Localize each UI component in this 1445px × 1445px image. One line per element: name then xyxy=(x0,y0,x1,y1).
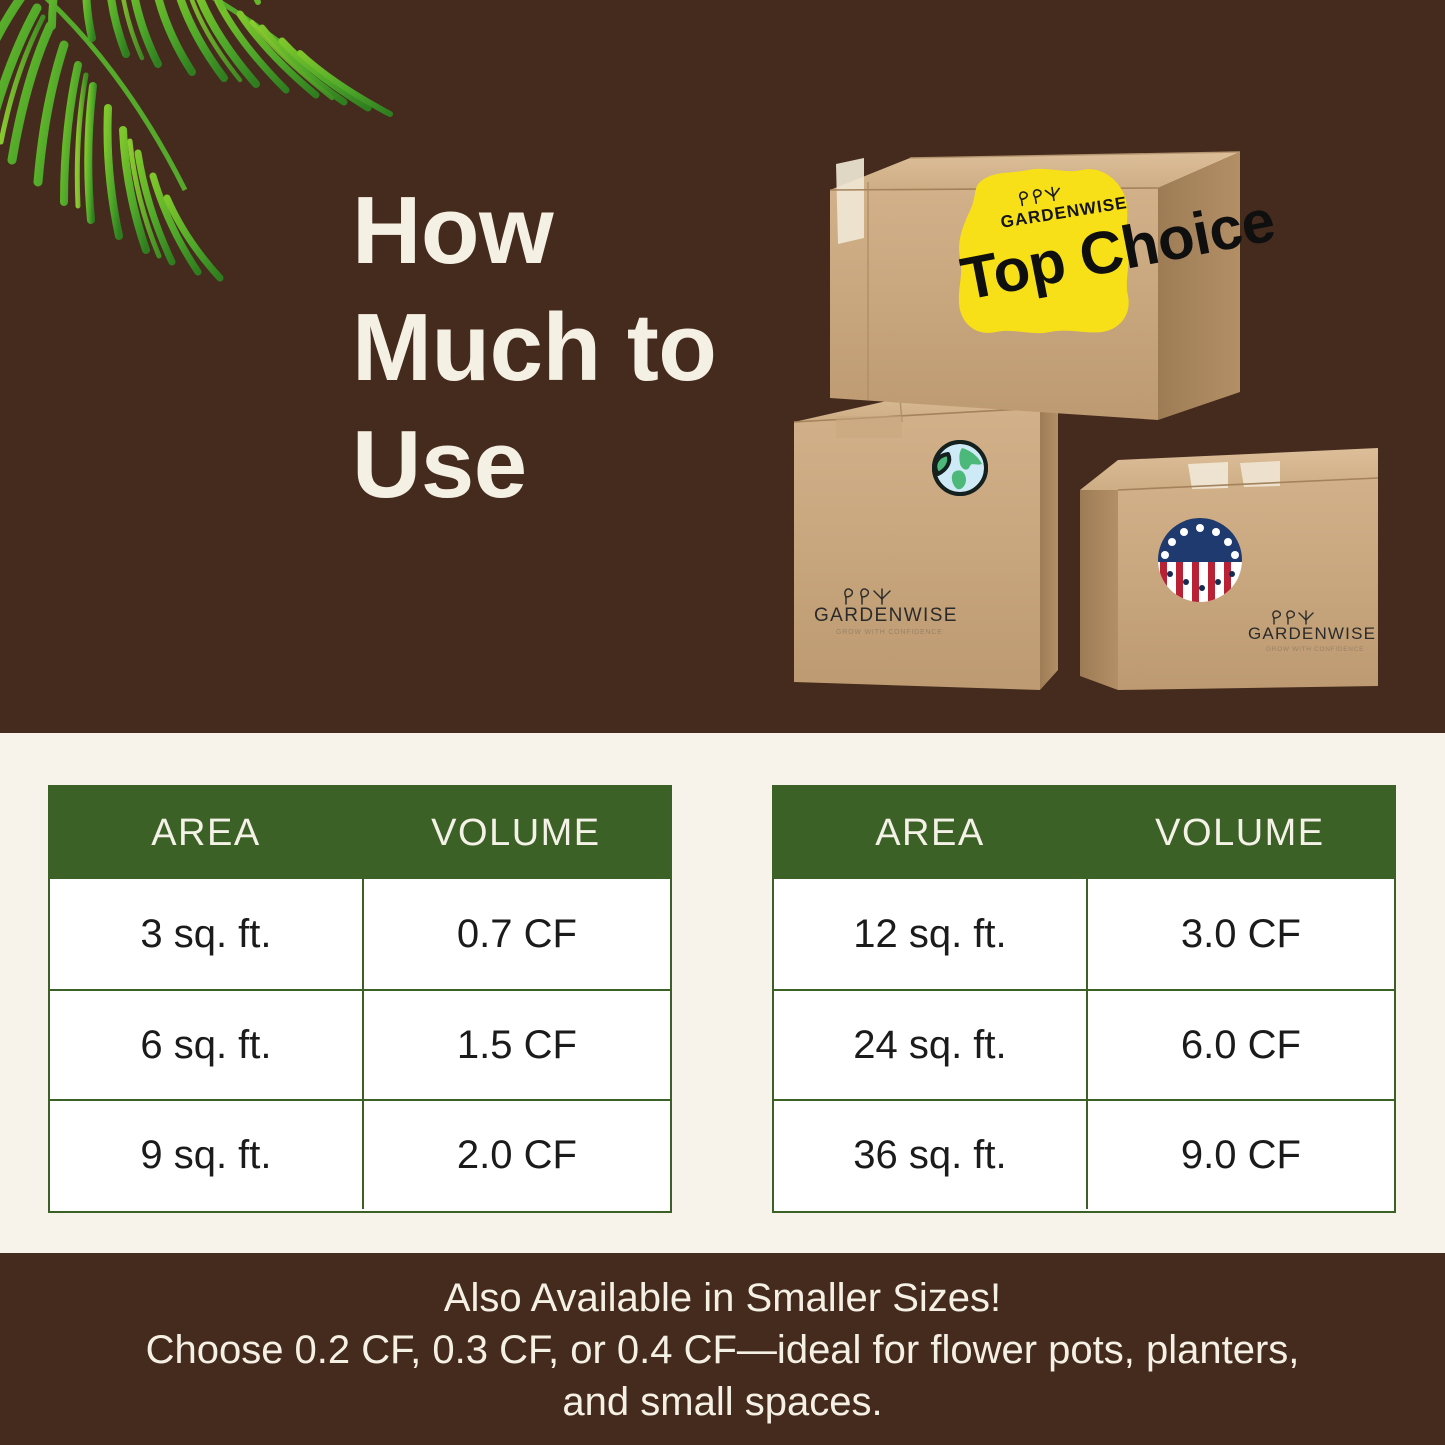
headline-line-3: Use xyxy=(352,406,782,523)
cell-volume: 1.5 CF xyxy=(362,991,670,1099)
usa-flag-sticker xyxy=(1158,518,1242,602)
right-box: GARDENWISE GROW WITH CONFIDENCE xyxy=(1080,448,1378,690)
large-sizes-table: AREA VOLUME 12 sq. ft. 3.0 CF 24 sq. ft.… xyxy=(772,785,1396,1213)
cell-area: 24 sq. ft. xyxy=(774,991,1086,1099)
svg-text:GROW WITH CONFIDENCE: GROW WITH CONFIDENCE xyxy=(836,629,943,636)
headline-line-1: How xyxy=(352,172,782,289)
cell-volume: 2.0 CF xyxy=(362,1101,670,1209)
page-title: How Much to Use xyxy=(352,172,782,523)
table-row: 6 sq. ft. 1.5 CF xyxy=(50,989,670,1099)
table-row: 12 sq. ft. 3.0 CF xyxy=(774,879,1394,989)
eco-globe-sticker xyxy=(934,442,986,494)
table-body: 12 sq. ft. 3.0 CF 24 sq. ft. 6.0 CF 36 s… xyxy=(774,879,1394,1209)
cell-volume: 3.0 CF xyxy=(1086,879,1394,989)
footer-line-3: and small spaces. xyxy=(0,1376,1445,1428)
headline-line-2: Much to xyxy=(352,289,782,406)
small-sizes-table: AREA VOLUME 3 sq. ft. 0.7 CF 6 sq. ft. 1… xyxy=(48,785,672,1213)
footer-line-2: Choose 0.2 CF, 0.3 CF, or 0.4 CF—ideal f… xyxy=(0,1324,1445,1376)
column-header-volume: VOLUME xyxy=(362,787,670,879)
top-box: GARDENWISE Top Choice xyxy=(830,152,1280,420)
cell-volume: 0.7 CF xyxy=(362,879,670,989)
svg-text:GROW WITH CONFIDENCE: GROW WITH CONFIDENCE xyxy=(1266,646,1364,653)
product-boxes-image: GARDENWISE GROW WITH CONFIDENCE xyxy=(780,130,1400,690)
cell-area: 36 sq. ft. xyxy=(774,1101,1086,1209)
svg-text:GARDENWISE: GARDENWISE xyxy=(814,605,958,626)
footer-line-1: Also Available in Smaller Sizes! xyxy=(0,1272,1445,1324)
column-header-area: AREA xyxy=(50,787,362,879)
cell-area: 6 sq. ft. xyxy=(50,991,362,1099)
table-body: 3 sq. ft. 0.7 CF 6 sq. ft. 1.5 CF 9 sq. … xyxy=(50,879,670,1209)
column-header-area: AREA xyxy=(774,787,1086,879)
table-row: 24 sq. ft. 6.0 CF xyxy=(774,989,1394,1099)
cell-area: 3 sq. ft. xyxy=(50,879,362,989)
middle-box: GARDENWISE GROW WITH CONFIDENCE xyxy=(794,388,1058,690)
cell-area: 12 sq. ft. xyxy=(774,879,1086,989)
cell-volume: 9.0 CF xyxy=(1086,1101,1394,1209)
svg-text:GARDENWISE: GARDENWISE xyxy=(1248,624,1376,643)
column-header-volume: VOLUME xyxy=(1086,787,1394,879)
cell-volume: 6.0 CF xyxy=(1086,991,1394,1099)
table-row: 9 sq. ft. 2.0 CF xyxy=(50,1099,670,1209)
infographic-canvas: How Much to Use xyxy=(0,0,1445,1445)
table-row: 3 sq. ft. 0.7 CF xyxy=(50,879,670,989)
table-row: 36 sq. ft. 9.0 CF xyxy=(774,1099,1394,1209)
table-header-row: AREA VOLUME xyxy=(774,787,1394,879)
table-header-row: AREA VOLUME xyxy=(50,787,670,879)
cell-area: 9 sq. ft. xyxy=(50,1101,362,1209)
footer-note: Also Available in Smaller Sizes! Choose … xyxy=(0,1272,1445,1428)
